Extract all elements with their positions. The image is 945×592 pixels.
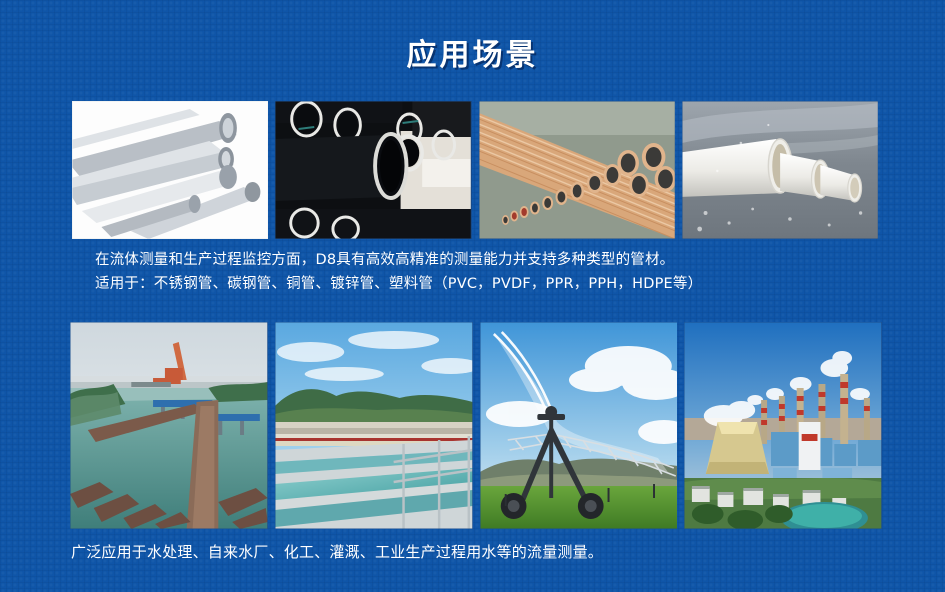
caption-line-applicable-pipes: 适用于：不锈钢管、碳钢管、铜管、镀锌管、塑料管（PVC，PVDF，PPR，PPH… [95,272,895,296]
caption-line-applications: 广泛应用于水处理、自来水厂、化工、灌溉、工业生产过程用水等的流量测量。 [71,540,911,564]
application-scene-caption: 广泛应用于水处理、自来水厂、化工、灌溉、工业生产过程用水等的流量测量。 [71,540,911,564]
black-hdpe-pipes-photo[interactable] [275,101,471,239]
application-scenarios-page: 应用场景 [0,0,945,592]
page-title: 应用场景 [407,30,539,74]
stainless-steel-pipes-photo[interactable] [72,101,268,239]
caption-line-measurement: 在流体测量和生产过程监控方面，D8具有高效高精准的测量能力并支持多种类型的管材。 [95,248,895,272]
pipe-material-gallery [72,101,878,239]
waterworks-sedimentation-basin-photo[interactable] [275,322,473,529]
copper-pipes-photo[interactable] [479,101,675,239]
application-scene-gallery [70,322,882,529]
water-treatment-intake-photo[interactable] [70,322,268,529]
thermal-power-plant-photo[interactable] [684,322,882,529]
center-pivot-irrigation-photo[interactable] [480,322,678,529]
white-plastic-pipes-photo[interactable] [682,101,878,239]
page-title-container: 应用场景 [0,30,945,74]
pipe-material-captions: 在流体测量和生产过程监控方面，D8具有高效高精准的测量能力并支持多种类型的管材。… [95,248,895,296]
